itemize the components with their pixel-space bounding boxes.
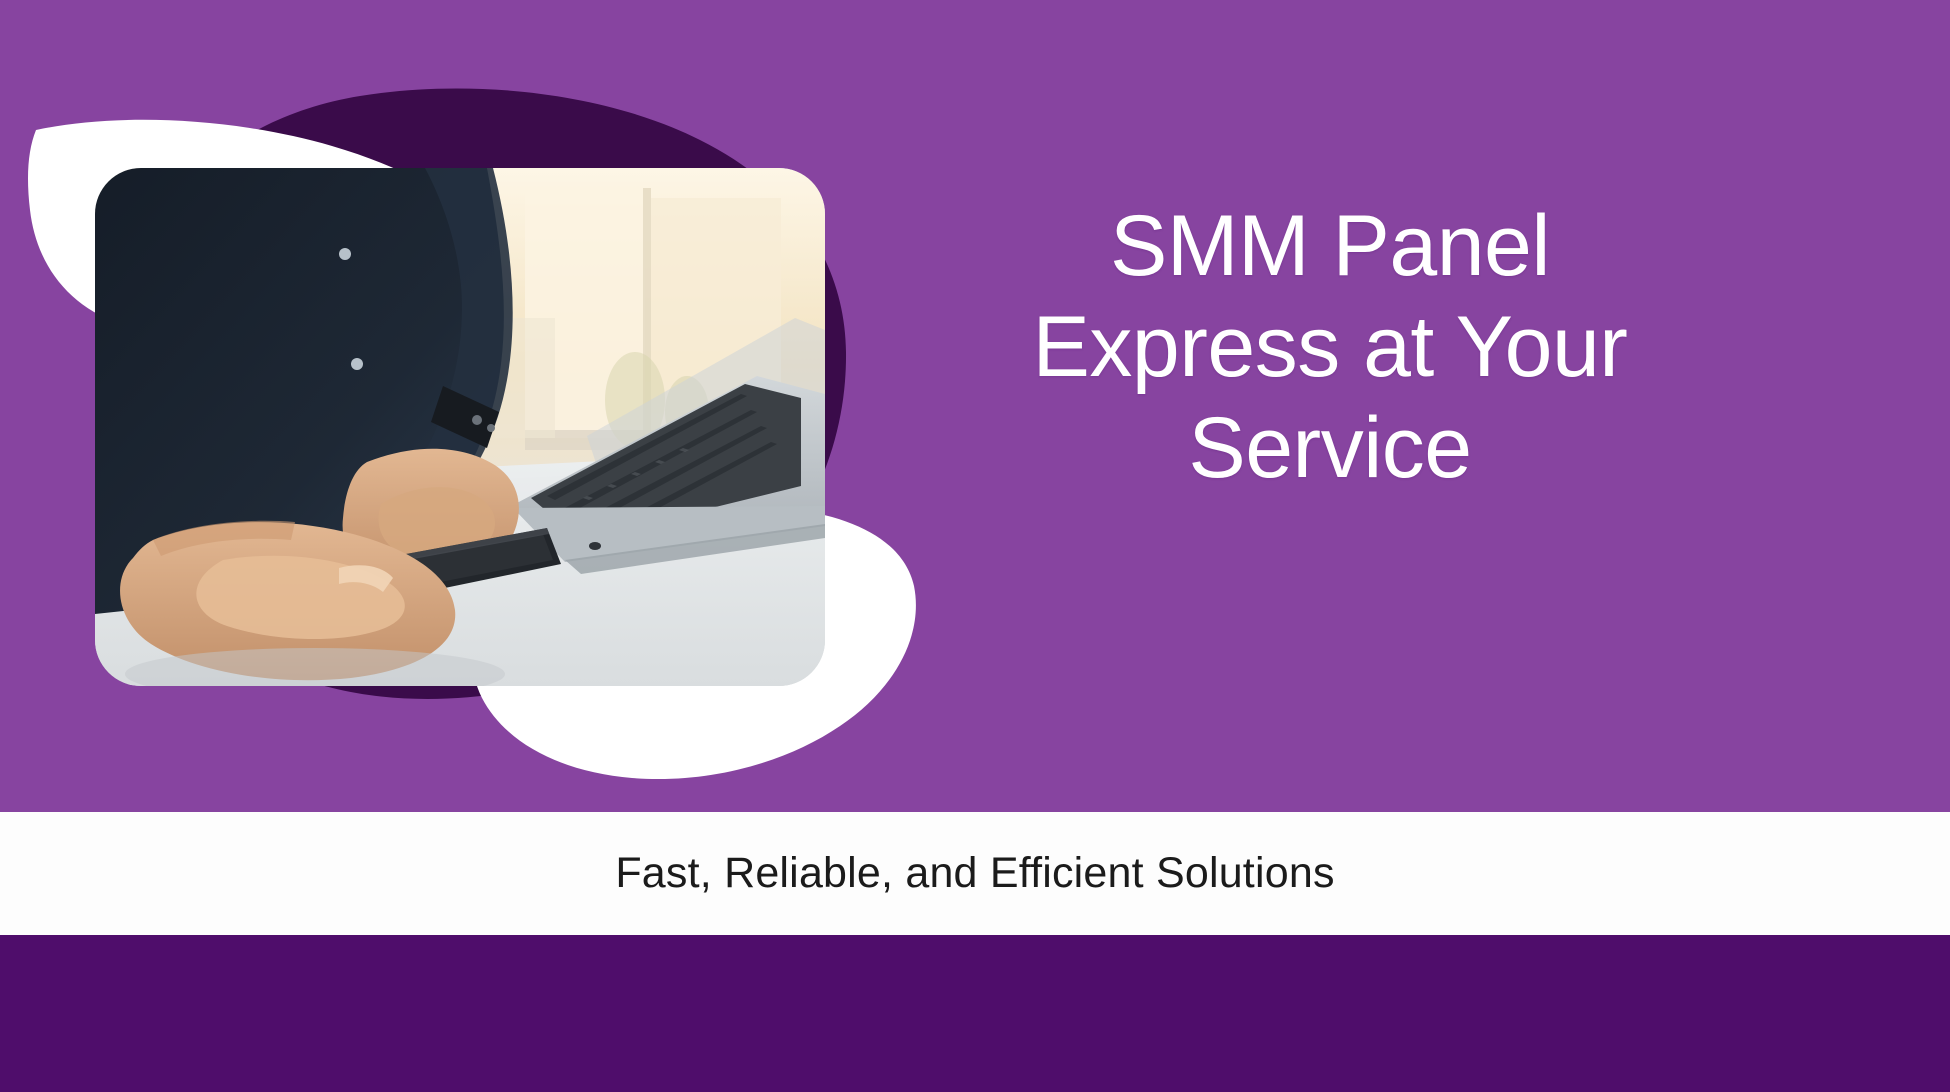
background-deep-purple-band (0, 935, 1950, 1092)
headline-line-3: Service (830, 398, 1830, 499)
page-title: SMM Panel Express at Your Service (830, 196, 1830, 499)
subtitle-text: Fast, Reliable, and Efficient Solutions (615, 849, 1334, 898)
promo-slide: SMM Panel Express at Your Service Fast, … (0, 0, 1950, 1092)
subtitle-banner: Fast, Reliable, and Efficient Solutions (0, 812, 1950, 935)
headline-line-2: Express at Your (830, 297, 1830, 398)
headline-line-1: SMM Panel (830, 196, 1830, 297)
hero-photo (95, 168, 825, 686)
